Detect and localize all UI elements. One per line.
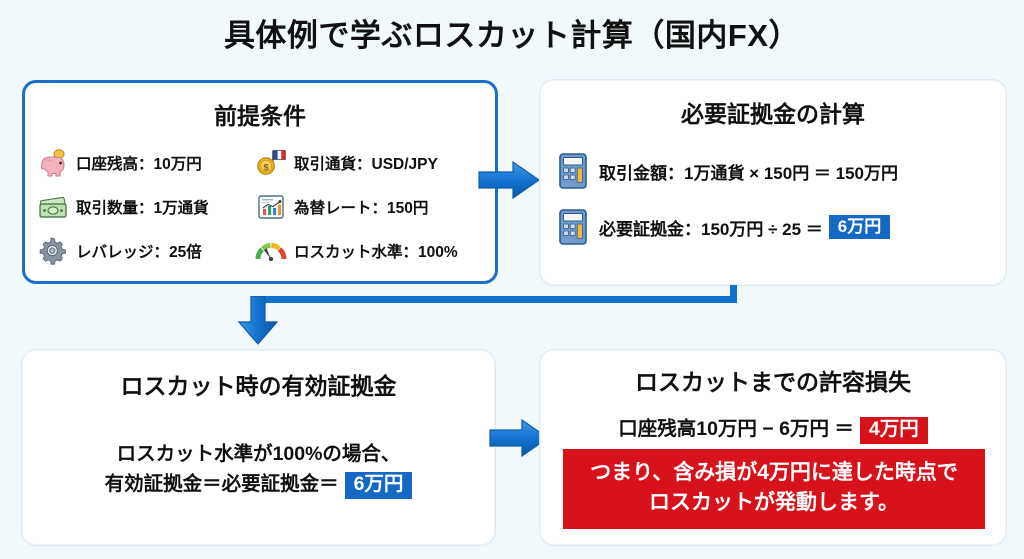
infographic-canvas: 具体例で学ぶロスカット計算（国内FX） 前提条件 口座残高：10万円: [0, 0, 1024, 559]
card-allowable-loss: ロスカットまでの許容損失 口座残高10万円 − 6万円 ＝4万円 つまり、含み損…: [540, 350, 1006, 545]
banknotes-icon: [37, 192, 69, 222]
svg-text:$: $: [263, 162, 269, 173]
effective-margin-line-1: ロスカット水準が100%の場合、: [23, 439, 494, 469]
card-effective-margin-body: ロスカット水準が100%の場合、 有効証拠金＝必要証拠金＝6万円: [23, 439, 494, 499]
highlight-required-margin: 6万円: [829, 215, 890, 239]
premise-item-currency-pair: $ 取引通貨：USD/JPY: [255, 148, 489, 178]
calculator-icon: [557, 208, 589, 246]
effective-margin-line-2-text: 有効証拠金＝必要証拠金＝: [105, 473, 339, 495]
losscut-warning-line-1: つまり、含み損が4万円に達した時点で: [563, 458, 985, 488]
premise-item-leverage: レバレッジ：25倍: [37, 236, 255, 266]
card-allowable-loss-title: ロスカットまでの許容損失: [541, 363, 1005, 397]
connector-horizontal-segment: [258, 296, 737, 303]
card-effective-margin: ロスカット時の有効証拠金 ロスカット水準が100%の場合、 有効証拠金＝必要証拠…: [22, 350, 495, 545]
calc-row-text: 必要証拠金：150万円 ÷ 25 ＝ 6万円: [599, 215, 890, 240]
card-effective-margin-title: ロスカット時の有効証拠金: [23, 367, 494, 401]
card-premise: 前提条件 口座残高：10万円: [22, 80, 498, 284]
card-required-margin-title: 必要証拠金の計算: [541, 95, 1005, 129]
card-premise-title: 前提条件: [25, 97, 495, 131]
premise-item-trade-volume: 取引数量：1万通貨: [37, 192, 255, 222]
piggy-bank-icon: [37, 148, 69, 178]
arrow-right-icon-1: [473, 152, 545, 208]
premise-item-label: 為替レート：150円: [294, 196, 428, 218]
premise-item-losscut-level: ロスカット水準：100%: [255, 236, 489, 266]
bar-chart-icon: [255, 192, 287, 222]
premise-item-label: レバレッジ：25倍: [76, 240, 202, 262]
allowable-loss-equation-text: 口座残高10万円 − 6万円 ＝: [618, 418, 854, 440]
highlight-effective-margin: 6万円: [345, 472, 413, 499]
highlight-allowable-loss: 4万円: [860, 417, 928, 444]
calculator-icon: [557, 152, 589, 190]
premise-item-label: 口座残高：10万円: [76, 152, 202, 174]
calc-rows: 取引金額：1万通貨 × 150円 ＝ 150万円 必要証拠金：150万: [557, 143, 997, 255]
premise-item-exchange-rate: 為替レート：150円: [255, 192, 489, 222]
premise-item-account-balance: 口座残高：10万円: [37, 148, 255, 178]
page-title: 具体例で学ぶロスカット計算（国内FX）: [0, 10, 1024, 55]
allowable-loss-equation: 口座残高10万円 − 6万円 ＝4万円: [541, 412, 1005, 444]
dollar-coin-flag-icon: $: [255, 148, 287, 178]
card-required-margin: 必要証拠金の計算 取引金額：1万通貨 × 150円 ＝ 150万円: [540, 80, 1006, 285]
effective-margin-line-2: 有効証拠金＝必要証拠金＝6万円: [23, 469, 494, 499]
calc-row-trade-amount: 取引金額：1万通貨 × 150円 ＝ 150万円: [557, 143, 997, 199]
losscut-warning-line-2: ロスカットが発動します。: [563, 488, 985, 518]
premise-grid: 口座残高：10万円 $ 取引通貨：USD/JPY: [37, 141, 489, 273]
elbow-down-arrow-icon: [231, 296, 287, 350]
calc-row-text: 取引金額：1万通貨 × 150円 ＝ 150万円: [599, 159, 898, 184]
premise-item-label: 取引数量：1万通貨: [76, 196, 209, 218]
premise-item-label: ロスカット水準：100%: [294, 240, 458, 262]
calc-row-required-margin: 必要証拠金：150万円 ÷ 25 ＝ 6万円: [557, 199, 997, 255]
calc-row-text-plain: 必要証拠金：150万円 ÷ 25 ＝: [599, 215, 823, 240]
premise-item-label: 取引通貨：USD/JPY: [294, 152, 438, 174]
gear-icon: [37, 236, 69, 266]
losscut-warning-banner: つまり、含み損が4万円に達した時点で ロスカットが発動します。: [563, 449, 985, 529]
gauge-icon: [255, 236, 287, 266]
